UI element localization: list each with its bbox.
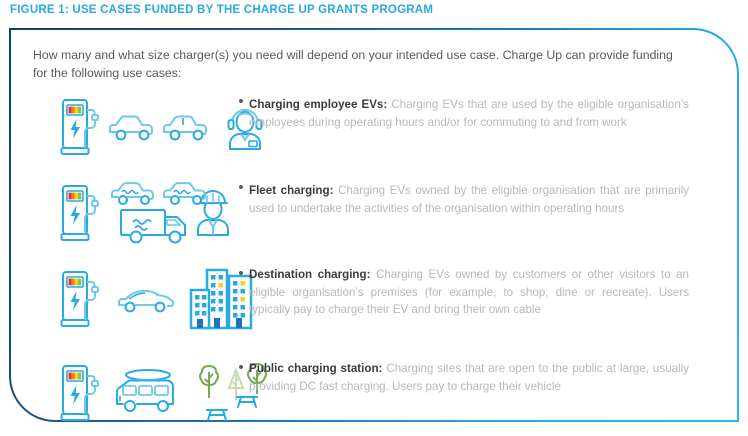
list-bullet: • xyxy=(233,178,249,195)
ev-charger-icon xyxy=(61,182,101,244)
use-case-description: Public charging station: Charging sites … xyxy=(249,360,689,395)
ev-charger-icon xyxy=(61,362,101,424)
use-case-list: • Charging employee EVs: Charging EVs th… xyxy=(33,92,713,436)
use-case-icons xyxy=(33,358,233,428)
callout-inner: How many and what size charger(s) you ne… xyxy=(11,30,737,420)
use-case-text: Destination charging: Charging EVs owned… xyxy=(249,264,713,319)
ev-charger-icon xyxy=(61,96,101,158)
use-case-icons xyxy=(33,178,233,248)
use-case-icons xyxy=(33,264,233,334)
list-bullet: • xyxy=(233,264,249,281)
use-case-description: Destination charging: Charging EVs owned… xyxy=(249,266,689,319)
use-case-row: • Public charging station: Charging site… xyxy=(33,358,713,436)
car-icon xyxy=(107,110,155,144)
use-case-text: Charging employee EVs: Charging EVs that… xyxy=(249,92,713,131)
use-case-label: Charging employee EVs: xyxy=(249,98,387,111)
use-case-row: • Charging employee EVs: Charging EVs th… xyxy=(33,92,713,176)
ev-charger-icon xyxy=(61,268,101,330)
delivery-truck-icon xyxy=(119,208,197,246)
list-bullet: • xyxy=(233,358,249,375)
figure-container: FIGURE 1: USE CASES FUNDED BY THE CHARGE… xyxy=(0,0,748,436)
fleet-car-icon xyxy=(161,178,209,208)
callout-box: How many and what size charger(s) you ne… xyxy=(9,28,739,422)
list-bullet: • xyxy=(233,92,249,109)
car-icon xyxy=(161,110,209,144)
use-case-label: Fleet charging: xyxy=(249,184,333,197)
use-case-text: Public charging station: Charging sites … xyxy=(249,358,713,395)
convertible-car-icon xyxy=(115,283,177,315)
use-case-description: Fleet charging: Charging EVs owned by th… xyxy=(249,182,689,217)
use-case-row: • Destination charging: Charging EVs own… xyxy=(33,264,713,356)
use-case-label: Destination charging: xyxy=(249,268,370,281)
figure-title: FIGURE 1: USE CASES FUNDED BY THE CHARGE… xyxy=(10,4,433,16)
fleet-car-icon xyxy=(109,178,157,208)
use-case-icons xyxy=(33,92,233,162)
use-case-row: • Fleet charging: Charging EVs owned by … xyxy=(33,178,713,262)
use-case-label: Public charging station: xyxy=(249,362,382,375)
use-case-text: Fleet charging: Charging EVs owned by th… xyxy=(249,178,713,217)
intro-paragraph: How many and what size charger(s) you ne… xyxy=(33,46,685,82)
campervan-surfboard-icon xyxy=(111,368,189,418)
use-case-description: Charging employee EVs: Charging EVs that… xyxy=(249,96,689,131)
